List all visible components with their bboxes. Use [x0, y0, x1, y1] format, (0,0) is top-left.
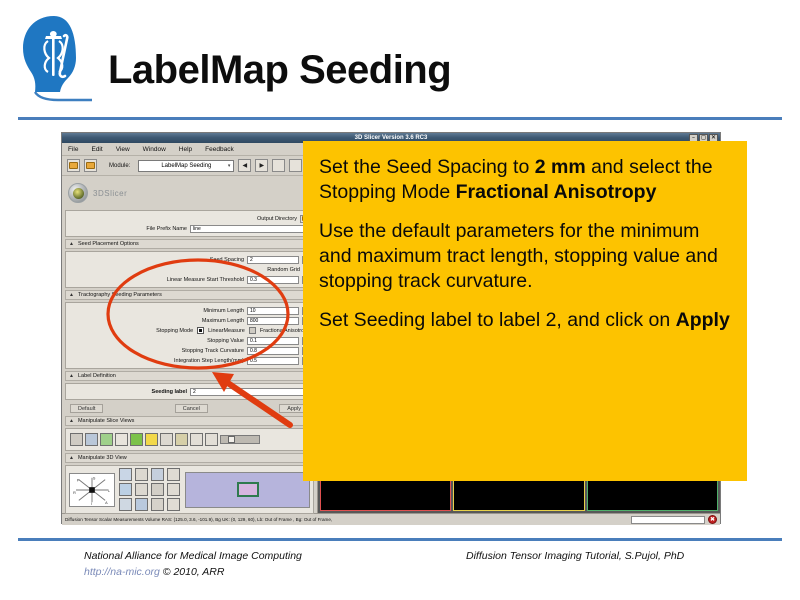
dialog-button-row[interactable]: Default Cancel Apply [64, 402, 315, 414]
section-title: Manipulate Slice Views [78, 418, 134, 424]
file-prefix-value: line [193, 226, 201, 232]
seeding-label-value: 2 [193, 389, 196, 395]
module-label: Module: [109, 163, 130, 169]
stopping-mode-option-linearmeasure[interactable]: LinearMeasure [208, 328, 245, 334]
view-3d-toolbar: P S L R I A [65, 465, 314, 514]
integration-step-length-row[interactable]: Integration Step Length(mm) 0.5 ▸ [69, 356, 310, 365]
right-arrow-icon: ▶ [260, 162, 265, 169]
section-title: Label Definition [78, 373, 116, 379]
seed-spacing-label: Seed Spacing [210, 257, 244, 263]
zoom-out-icon[interactable] [167, 483, 180, 496]
view-3d-thumbnail[interactable] [185, 472, 310, 508]
minimum-length-value: 10 [250, 308, 256, 314]
maximum-length-label: Maximum Length [202, 318, 244, 324]
slicer-orb-logo [68, 183, 88, 203]
callout-paragraph-2: Use the default parameters for the minim… [319, 219, 731, 294]
stopping-track-curvature-row[interactable]: Stopping Track Curvature 0.8 ▸ [69, 346, 310, 355]
light-icon[interactable] [151, 498, 164, 511]
stopping-mode-linearmeasure-radio[interactable] [197, 327, 204, 334]
collapse-caret-icon: ▲ [69, 418, 74, 424]
svg-text:A: A [105, 501, 108, 505]
svg-text:S: S [93, 476, 96, 480]
svg-text:L: L [108, 488, 110, 492]
random-grid-label: Random Grid [267, 267, 300, 273]
output-directory-label: Output Directory [257, 216, 297, 222]
menu-item-edit[interactable]: Edit [91, 146, 102, 153]
background-color-icon[interactable] [167, 498, 180, 511]
stopping-track-curvature-label: Stopping Track Curvature [182, 348, 244, 354]
output-directory-row[interactable]: Output Directory [69, 214, 310, 223]
stopping-value-label: Stopping Value [207, 338, 244, 344]
stopping-mode-fractionalanisotropy-radio[interactable] [249, 327, 256, 334]
status-text: Diffusion Tensor Scalar Measurements Vol… [65, 517, 628, 522]
grid-button[interactable] [289, 159, 302, 172]
footer-organization: National Alliance for Medical Image Comp… [84, 550, 302, 562]
footer-copyright: © 2010, ARR [163, 566, 225, 578]
maximum-length-value: 800 [250, 318, 258, 324]
label-definition-box: Seeding label 2 ▾ [65, 383, 314, 400]
instruction-callout: Set the Seed Spacing to 2 mm and select … [303, 141, 747, 481]
minimum-length-input[interactable]: 10 [247, 307, 299, 315]
section-manipulate-slice-views[interactable]: ▲ Manipulate Slice Views [65, 416, 314, 426]
center-view-icon[interactable] [135, 468, 148, 481]
slider-thumb[interactable] [228, 436, 235, 443]
folder-icon [69, 162, 78, 169]
output-settings-box: Output Directory File Prefix Name line [65, 210, 314, 237]
seed-spacing-value: 2 [250, 257, 253, 263]
save-scene-button[interactable] [84, 159, 97, 172]
seed-spacing-input[interactable]: 2 [247, 256, 299, 264]
look-from-icon[interactable] [119, 498, 132, 511]
tractography-seeding-parameters: Minimum Length 10 ▸ Maximum Length 800 ▸… [65, 302, 314, 369]
collapse-caret-icon: ▲ [69, 455, 74, 461]
fit-to-window-icon[interactable] [175, 433, 188, 446]
page-title: LabelMap Seeding [108, 48, 451, 93]
view-3d-box [237, 482, 259, 497]
menu-item-window[interactable]: Window [143, 146, 166, 153]
integration-step-length-input[interactable]: 0.5 [247, 357, 299, 365]
maximum-length-row[interactable]: Maximum Length 800 ▸ [69, 316, 310, 325]
file-prefix-input[interactable]: line [190, 225, 310, 233]
menu-item-help[interactable]: Help [179, 146, 192, 153]
camera-icon[interactable] [151, 483, 164, 496]
collapse-caret-icon: ▲ [69, 241, 74, 247]
linear-measure-threshold-label: Linear Measure Start Threshold [167, 277, 244, 283]
menu-item-view[interactable]: View [116, 146, 130, 153]
default-button[interactable]: Default [70, 404, 103, 413]
crosshair-icon[interactable] [85, 433, 98, 446]
random-grid-row[interactable]: Random Grid [69, 265, 310, 274]
module-selector[interactable]: LabelMap Seeding ▾ [138, 160, 234, 172]
section-title: Seed Placement Options [78, 241, 139, 247]
collapse-caret-icon: ▲ [69, 373, 74, 379]
linear-measure-threshold-row[interactable]: Linear Measure Start Threshold 0.3 ▸ [69, 275, 310, 284]
svg-text:I: I [91, 502, 92, 506]
maximum-length-input[interactable]: 800 [247, 317, 299, 325]
minimum-length-row[interactable]: Minimum Length 10 ▸ [69, 306, 310, 315]
section-title: Tractography Seeding Parameters [78, 292, 162, 298]
slide-header: LabelMap Seeding [0, 0, 800, 122]
module-control-panel: 3DSlicer Output Directory File Prefix Na… [62, 176, 318, 513]
link-views-icon[interactable] [190, 433, 203, 446]
previous-module-button[interactable]: ◀ [238, 159, 251, 172]
spin-view-icon[interactable] [119, 483, 132, 496]
footer-divider [18, 538, 782, 541]
label-outline-icon[interactable] [130, 433, 143, 446]
seeding-label-dropdown[interactable]: 2 ▾ [190, 388, 310, 396]
load-scene-button[interactable] [67, 159, 80, 172]
linear-measure-threshold-value: 0.3 [250, 277, 257, 283]
slice-views-toolbar [65, 428, 314, 451]
stopping-track-curvature-input[interactable]: 0.8 [247, 347, 299, 355]
file-prefix-label: File Prefix Name [146, 226, 187, 232]
box-view-icon[interactable] [135, 483, 148, 496]
stopping-value-row[interactable]: Stopping Value 0.1 ▸ [69, 336, 310, 345]
stopping-mode-row[interactable]: Stopping Mode LinearMeasure FractionalAn… [69, 326, 310, 335]
na-mic-head-caduceus-logo [18, 14, 92, 104]
stopping-track-curvature-value: 0.8 [250, 348, 257, 354]
eye-icon[interactable] [70, 433, 83, 446]
minimum-length-label: Minimum Length [203, 308, 244, 314]
seed-spacing-row[interactable]: Seed Spacing 2 ▸ [69, 255, 310, 264]
footer-url-line: http://na-mic.org © 2010, ARR [84, 566, 224, 578]
slicer-brand: 3DSlicer [64, 178, 315, 208]
left-arrow-icon: ◀ [243, 162, 248, 169]
compositing-icon[interactable] [145, 433, 158, 446]
seed-placement-box: Seed Spacing 2 ▸ Random Grid Linear Meas… [65, 251, 314, 288]
status-bar: Diffusion Tensor Scalar Measurements Vol… [62, 513, 720, 525]
section-title: Manipulate 3D View [78, 455, 127, 461]
callout-paragraph-1: Set the Seed Spacing to 2 mm and select … [319, 155, 731, 205]
stereo-view-icon[interactable] [151, 468, 164, 481]
seeding-label-row[interactable]: Seeding label 2 ▾ [69, 387, 310, 396]
menu-item-feedback[interactable]: Feedback [205, 146, 234, 153]
status-progress-field [631, 516, 705, 524]
file-prefix-row[interactable]: File Prefix Name line [69, 224, 310, 233]
annotation-icon[interactable] [115, 433, 128, 446]
slice-opacity-slider[interactable] [220, 435, 260, 444]
layout-button[interactable] [272, 159, 285, 172]
slicer-brand-text: 3DSlicer [93, 189, 127, 198]
spacing-grid-icon[interactable] [160, 433, 173, 446]
slice-view-icon-strip[interactable] [69, 431, 310, 448]
section-label-definition[interactable]: ▲ Label Definition [65, 371, 314, 381]
menu-item-file[interactable]: File [68, 146, 78, 153]
linear-measure-threshold-input[interactable]: 0.3 [247, 276, 299, 284]
zoom-in-icon[interactable] [167, 468, 180, 481]
callout-paragraph-3: Set Seeding label to label 2, and click … [319, 308, 731, 333]
rotate-view-icon[interactable] [119, 468, 132, 481]
eye-3d-icon[interactable] [135, 498, 148, 511]
integration-step-length-value: 0.5 [250, 358, 257, 364]
chevron-down-icon: ▾ [228, 163, 231, 169]
footer-url[interactable]: http://na-mic.org [84, 566, 160, 578]
stopping-mode-label: Stopping Mode [156, 328, 193, 334]
cancel-button[interactable]: Cancel [175, 404, 208, 413]
seeding-label-label: Seeding label [152, 389, 187, 395]
section-seed-placement-options[interactable]: ▲ Seed Placement Options [65, 239, 314, 249]
folder-icon [86, 162, 95, 169]
svg-text:R: R [73, 490, 76, 494]
error-icon[interactable]: ✖ [708, 515, 717, 524]
footer-tutorial-credit: Diffusion Tensor Imaging Tutorial, S.Puj… [466, 550, 684, 562]
screenshot-icon[interactable] [205, 433, 218, 446]
stopping-value-input[interactable]: 0.1 [247, 337, 299, 345]
gradient-icon[interactable] [100, 433, 113, 446]
module-selector-value: LabelMap Seeding [161, 163, 211, 169]
section-tractography-seeding-parameters[interactable]: ▲ Tractography Seeding Parameters [65, 290, 314, 300]
next-module-button[interactable]: ▶ [255, 159, 268, 172]
orientation-widget[interactable]: P S L R I A [69, 473, 115, 507]
stopping-value-value: 0.1 [250, 338, 257, 344]
section-manipulate-3d-view[interactable]: ▲ Manipulate 3D View [65, 453, 314, 463]
title-divider [18, 117, 782, 120]
collapse-caret-icon: ▲ [69, 292, 74, 298]
integration-step-length-label: Integration Step Length(mm) [174, 358, 244, 364]
